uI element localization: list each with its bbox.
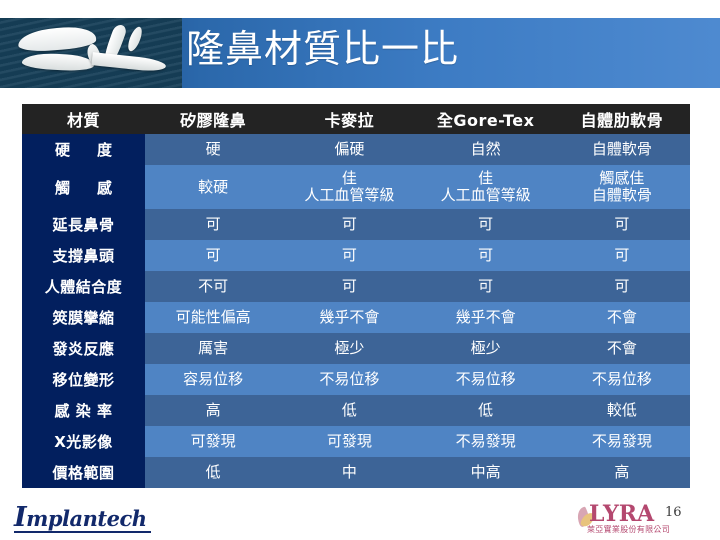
cell-line: 可	[418, 216, 554, 233]
column-header-2: 卡麥拉	[281, 104, 417, 134]
cell-line: 自體軟骨	[554, 187, 690, 204]
material-comparison-table: 材質矽膠隆鼻卡麥拉全Gore-Tex自體肋軟骨 硬 度硬偏硬自然自體軟骨觸 感較…	[22, 104, 690, 488]
cell-line: 可發現	[281, 433, 417, 450]
table-cell: 低	[418, 395, 554, 426]
table-cell: 可發現	[281, 426, 417, 457]
column-header-1: 矽膠隆鼻	[145, 104, 281, 134]
table-cell: 可	[418, 240, 554, 271]
table-cell: 低	[145, 457, 281, 488]
row-label: 支撐鼻頭	[22, 240, 145, 271]
table-cell: 可	[281, 271, 417, 302]
cell-line: 可	[554, 247, 690, 264]
cell-line: 較硬	[145, 179, 281, 196]
table-cell: 自體軟骨	[554, 134, 690, 165]
cell-line: 自然	[418, 141, 554, 158]
lyra-logo-text: LYRA	[589, 502, 654, 526]
cell-line: 厲害	[145, 340, 281, 357]
table-cell: 可	[281, 209, 417, 240]
row-label: 延長鼻骨	[22, 209, 145, 240]
table-cell: 不易位移	[418, 364, 554, 395]
cell-line: 極少	[418, 340, 554, 357]
table-cell: 可	[418, 209, 554, 240]
cell-line: 幾乎不會	[281, 309, 417, 326]
cell-line: 不易位移	[554, 371, 690, 388]
table-row: 硬 度硬偏硬自然自體軟骨	[22, 134, 690, 165]
implantech-logo-text: mplantech	[26, 506, 146, 531]
row-label: 觸 感	[22, 165, 145, 209]
page-title: 隆鼻材質比一比	[186, 24, 459, 74]
cell-line: 低	[145, 464, 281, 481]
cell-line: 人工血管等級	[418, 187, 554, 204]
table-cell: 幾乎不會	[281, 302, 417, 333]
table-row: 觸 感較硬佳人工血管等級佳人工血管等級觸感佳自體軟骨	[22, 165, 690, 209]
cell-line: 不會	[554, 309, 690, 326]
table-cell: 極少	[418, 333, 554, 364]
table-row: 發炎反應厲害極少極少不會	[22, 333, 690, 364]
cell-line: 可	[281, 247, 417, 264]
table-row: 延長鼻骨可可可可	[22, 209, 690, 240]
cell-line: 高	[554, 464, 690, 481]
implantech-logo: Implantech	[14, 506, 151, 533]
table-cell: 觸感佳自體軟骨	[554, 165, 690, 209]
lyra-company-subtitle: 萊亞實業股份有限公司	[587, 525, 670, 534]
table-cell: 可	[145, 209, 281, 240]
implant-shape-icon	[22, 52, 95, 72]
cell-line: 不易發現	[418, 433, 554, 450]
cell-line: 不易位移	[418, 371, 554, 388]
column-header-material: 材質	[22, 104, 145, 134]
table-cell: 厲害	[145, 333, 281, 364]
table-header: 材質矽膠隆鼻卡麥拉全Gore-Tex自體肋軟骨	[22, 104, 690, 134]
table-cell: 可	[418, 271, 554, 302]
table-cell: 不易位移	[554, 364, 690, 395]
table-cell: 可	[554, 209, 690, 240]
table-row: 移位變形容易位移不易位移不易位移不易位移	[22, 364, 690, 395]
row-label: 感 染 率	[22, 395, 145, 426]
implant-shape-icon	[92, 52, 167, 73]
slide-root: 隆鼻材質比一比 隆鼻材質比一比 材質矽膠隆鼻卡麥拉全Gore-Tex自體肋軟骨 …	[0, 0, 720, 540]
table-cell: 可發現	[145, 426, 281, 457]
cell-line: 中	[281, 464, 417, 481]
table-cell: 不會	[554, 333, 690, 364]
table-cell: 中	[281, 457, 417, 488]
cell-line: 觸感佳	[554, 170, 690, 187]
table-body: 硬 度硬偏硬自然自體軟骨觸 感較硬佳人工血管等級佳人工血管等級觸感佳自體軟骨延長…	[22, 134, 690, 488]
implant-shape-icon	[17, 25, 96, 52]
cell-line: 偏硬	[281, 141, 417, 158]
row-label: X光影像	[22, 426, 145, 457]
cell-line: 可	[281, 278, 417, 295]
table-row: 筴膜攣縮可能性偏高幾乎不會幾乎不會不會	[22, 302, 690, 333]
cell-line: 幾乎不會	[418, 309, 554, 326]
page-number: 16	[665, 505, 682, 520]
table-cell: 可	[281, 240, 417, 271]
table-cell: 可能性偏高	[145, 302, 281, 333]
table-row: 感 染 率高低低較低	[22, 395, 690, 426]
table-cell: 中高	[418, 457, 554, 488]
table-cell: 高	[554, 457, 690, 488]
cell-line: 可	[145, 247, 281, 264]
cell-line: 可	[418, 278, 554, 295]
table-cell: 低	[281, 395, 417, 426]
table-cell: 容易位移	[145, 364, 281, 395]
table-cell: 不易發現	[418, 426, 554, 457]
table-cell: 可	[145, 240, 281, 271]
table-cell: 幾乎不會	[418, 302, 554, 333]
table-cell: 佳人工血管等級	[418, 165, 554, 209]
cell-line: 不會	[554, 340, 690, 357]
row-label: 人體結合度	[22, 271, 145, 302]
table-cell: 佳人工血管等級	[281, 165, 417, 209]
table-cell: 不易位移	[281, 364, 417, 395]
cell-line: 可	[418, 247, 554, 264]
cell-line: 高	[145, 402, 281, 419]
title-banner: 隆鼻材質比一比 隆鼻材質比一比	[0, 18, 720, 88]
table-cell: 硬	[145, 134, 281, 165]
cell-line: 可發現	[145, 433, 281, 450]
cell-line: 自體軟骨	[554, 141, 690, 158]
nasal-implant-photo	[0, 18, 182, 88]
cell-line: 人工血管等級	[281, 187, 417, 204]
table-cell: 可	[554, 240, 690, 271]
table-cell: 不可	[145, 271, 281, 302]
implant-shape-icon	[125, 25, 144, 53]
cell-line: 佳	[418, 170, 554, 187]
table-row: 人體結合度不可可可可	[22, 271, 690, 302]
table-cell: 偏硬	[281, 134, 417, 165]
row-label: 價格範圍	[22, 457, 145, 488]
cell-line: 不易位移	[281, 371, 417, 388]
table-cell: 可	[554, 271, 690, 302]
table-row: 價格範圍低中中高高	[22, 457, 690, 488]
lyra-logo: LYRA 萊亞實業股份有限公司	[575, 502, 670, 536]
cell-line: 極少	[281, 340, 417, 357]
cell-line: 可	[281, 216, 417, 233]
implantech-logo-initial: I	[14, 502, 26, 533]
table-cell: 極少	[281, 333, 417, 364]
cell-line: 中高	[418, 464, 554, 481]
table-cell: 較硬	[145, 165, 281, 209]
column-header-3: 全Gore-Tex	[418, 104, 554, 134]
cell-line: 硬	[145, 141, 281, 158]
row-label: 發炎反應	[22, 333, 145, 364]
row-label: 硬 度	[22, 134, 145, 165]
cell-line: 佳	[281, 170, 417, 187]
cell-line: 較低	[554, 402, 690, 419]
table-row: X光影像可發現可發現不易發現不易發現	[22, 426, 690, 457]
table-cell: 自然	[418, 134, 554, 165]
cell-line: 可	[554, 278, 690, 295]
table-header-row: 材質矽膠隆鼻卡麥拉全Gore-Tex自體肋軟骨	[22, 104, 690, 134]
cell-line: 不易發現	[554, 433, 690, 450]
cell-line: 不可	[145, 278, 281, 295]
cell-line: 容易位移	[145, 371, 281, 388]
row-label: 移位變形	[22, 364, 145, 395]
table-cell: 不會	[554, 302, 690, 333]
cell-line: 可能性偏高	[145, 309, 281, 326]
table-cell: 不易發現	[554, 426, 690, 457]
row-label: 筴膜攣縮	[22, 302, 145, 333]
cell-line: 低	[281, 402, 417, 419]
cell-line: 可	[145, 216, 281, 233]
table-cell: 較低	[554, 395, 690, 426]
column-header-4: 自體肋軟骨	[554, 104, 690, 134]
cell-line: 低	[418, 402, 554, 419]
cell-line: 可	[554, 216, 690, 233]
table-cell: 高	[145, 395, 281, 426]
table-row: 支撐鼻頭可可可可	[22, 240, 690, 271]
